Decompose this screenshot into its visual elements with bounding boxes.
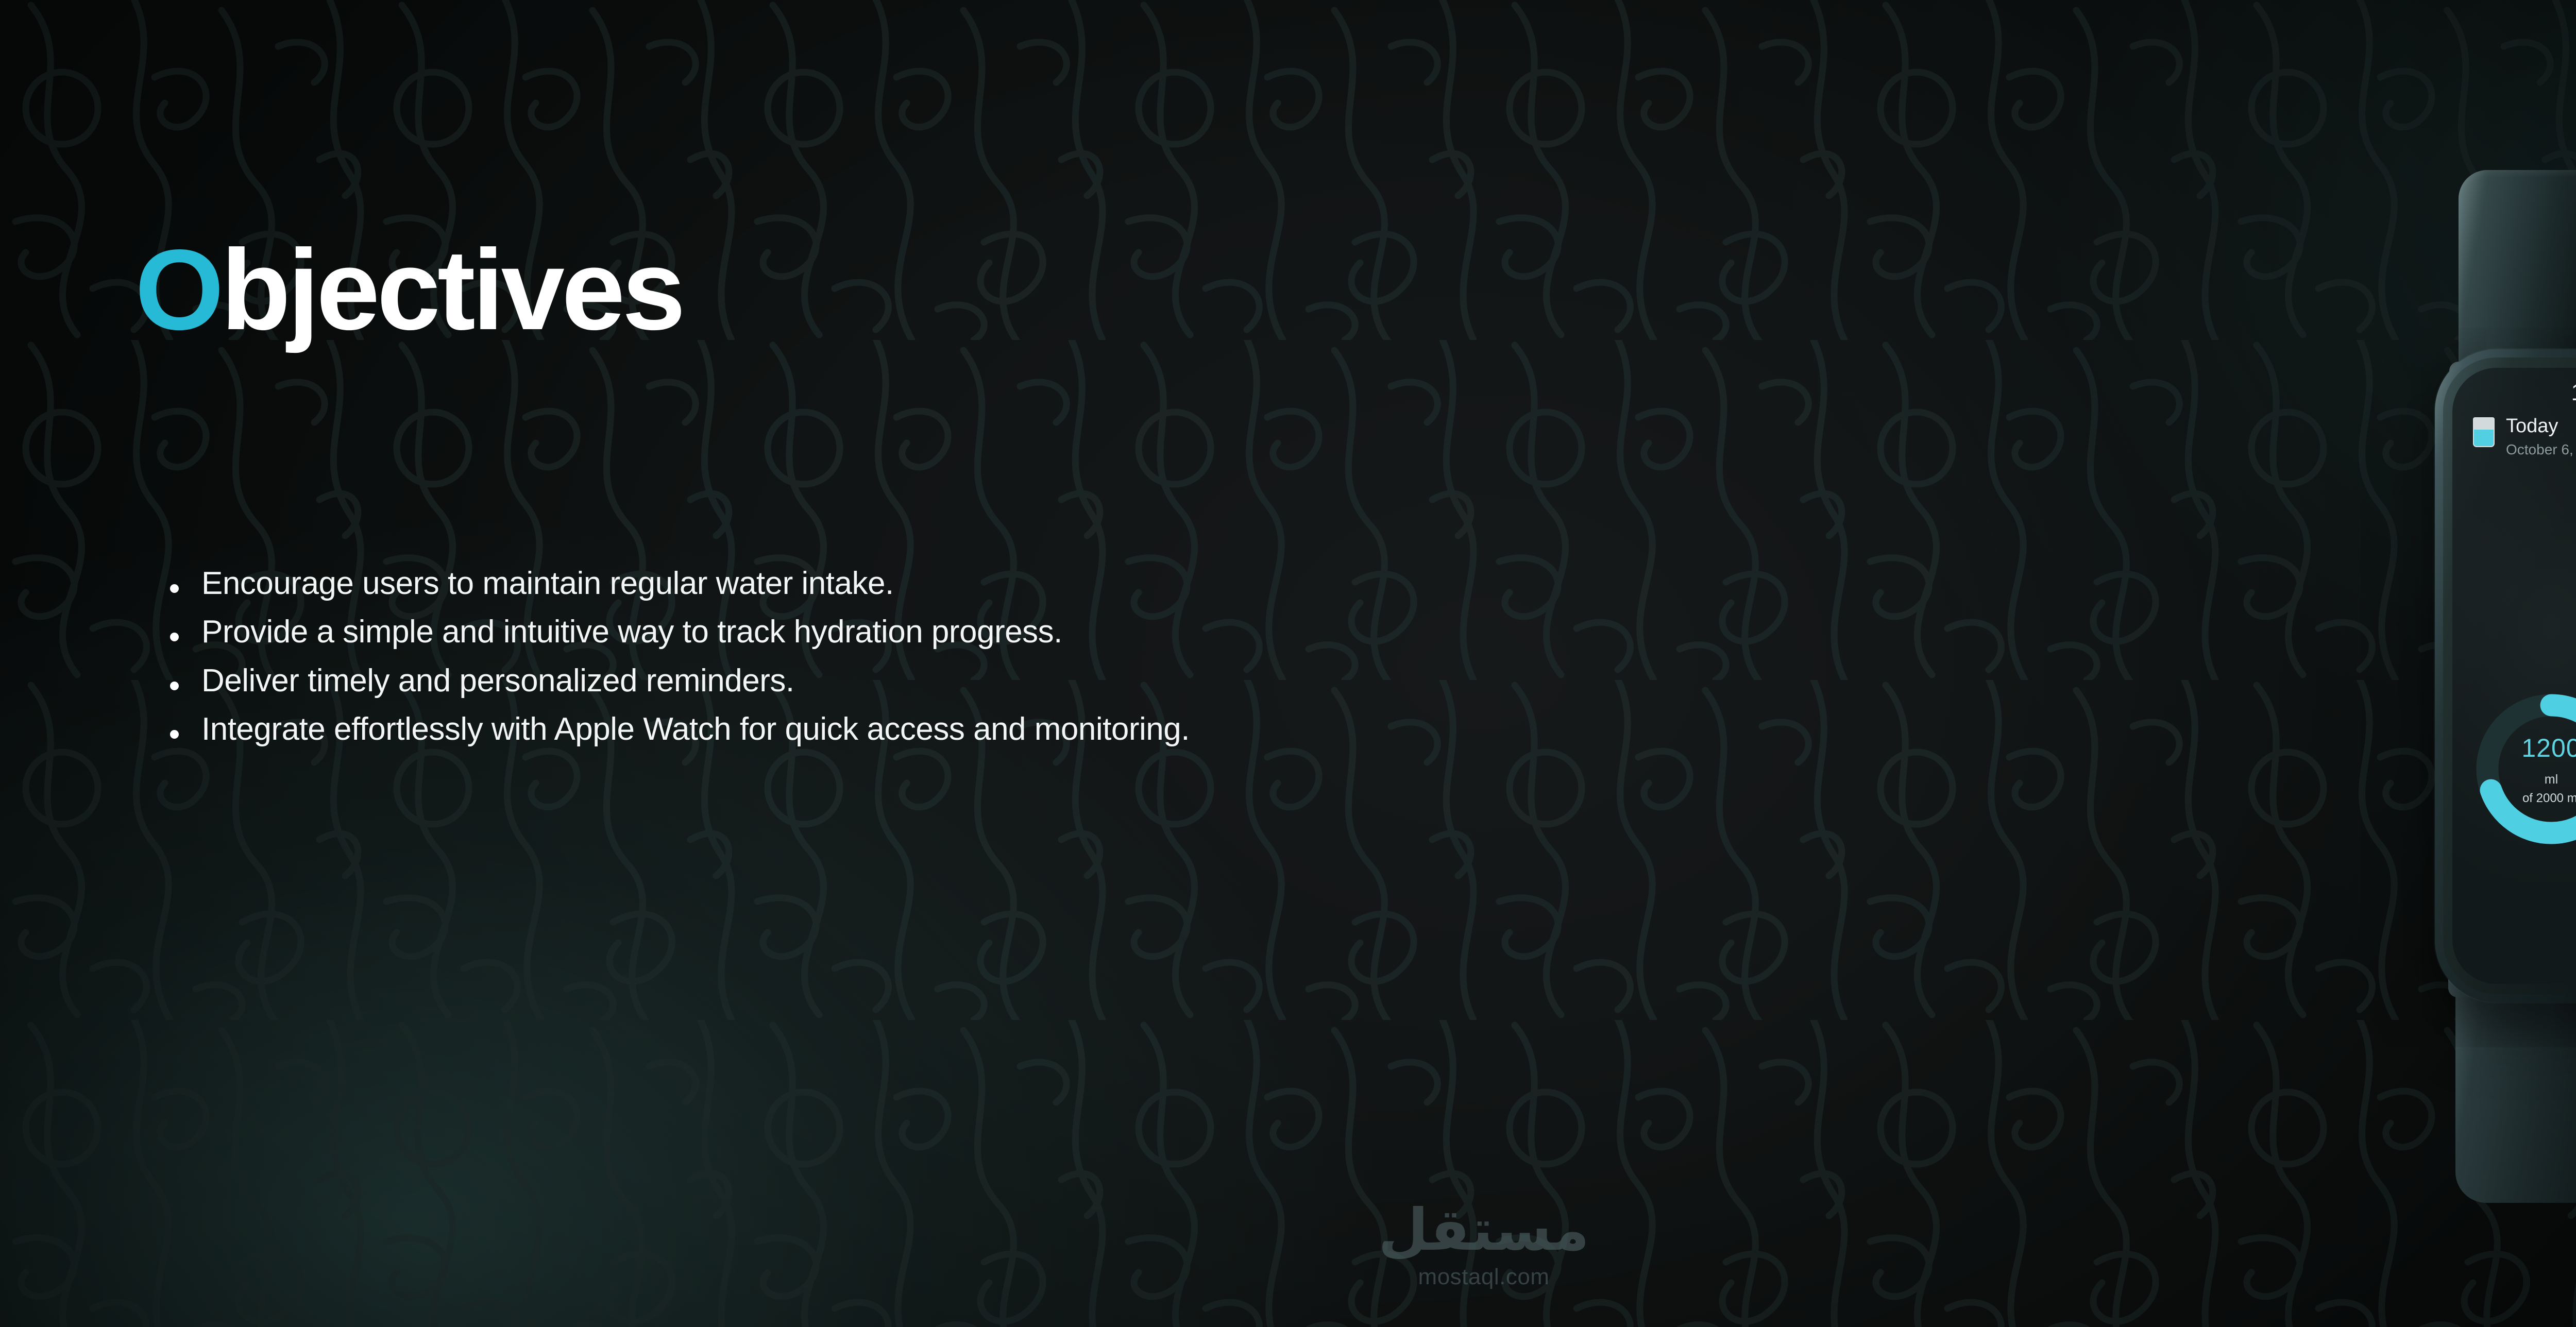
hydration-goal-label: of 2000 ml	[2522, 791, 2576, 806]
bullet-dot-icon	[170, 584, 179, 593]
hydration-value: 1200	[2521, 733, 2576, 763]
watch-date-label: October 6, 2025	[2506, 441, 2576, 458]
objectives-list: Encourage users to maintain regular wate…	[170, 566, 1190, 747]
hydration-ring-center: 1200 ml of 2000 ml	[2469, 687, 2576, 851]
watch-screen: 14:35 Today October 6, 2025	[2452, 368, 2576, 984]
list-item-label: Encourage users to maintain regular wate…	[201, 566, 894, 601]
list-item-label: Integrate effortlessly with Apple Watch …	[201, 711, 1190, 747]
watch-case: 14:35 Today October 6, 2025	[2435, 349, 2576, 1002]
water-glass-fill	[2474, 430, 2494, 446]
watch-day-label: Today	[2506, 415, 2576, 438]
bullet-dot-icon	[170, 633, 179, 641]
list-item: Integrate effortlessly with Apple Watch …	[170, 711, 1190, 747]
page-title-accent-letter: O	[135, 226, 221, 354]
page-title-rest: bjectives	[221, 226, 683, 354]
list-item-label: Deliver timely and personalized reminder…	[201, 663, 794, 699]
bullet-dot-icon	[170, 682, 179, 690]
watch-strap-bottom	[2455, 981, 2576, 1203]
page-title: Objectives	[135, 233, 683, 347]
mostaql-watermark: مستقل mostaql.com	[1378, 1201, 1589, 1290]
hydration-unit: ml	[2545, 772, 2558, 787]
list-item: Provide a simple and intuitive way to tr…	[170, 614, 1190, 650]
water-glass-icon	[2473, 417, 2495, 447]
list-item-label: Provide a simple and intuitive way to tr…	[201, 614, 1062, 650]
apple-watch-mockup: 14:35 Today October 6, 2025	[2232, 170, 2576, 1200]
list-item: Deliver timely and personalized reminder…	[170, 663, 1190, 699]
list-item: Encourage users to maintain regular wate…	[170, 566, 1190, 601]
watch-header-text: Today October 6, 2025	[2506, 415, 2576, 458]
mostaql-logo-arabic: مستقل	[1378, 1201, 1589, 1259]
status-time: 14:35	[2571, 378, 2576, 406]
watch-header: Today October 6, 2025	[2473, 415, 2576, 458]
screen-glare	[2452, 368, 2576, 984]
hydration-progress-ring[interactable]: 1200 ml of 2000 ml	[2469, 687, 2576, 851]
objectives-slide: Objectives Encourage users to maintain r…	[0, 0, 2576, 1327]
mostaql-logo-latin: mostaql.com	[1418, 1264, 1550, 1290]
bullet-dot-icon	[170, 730, 179, 739]
